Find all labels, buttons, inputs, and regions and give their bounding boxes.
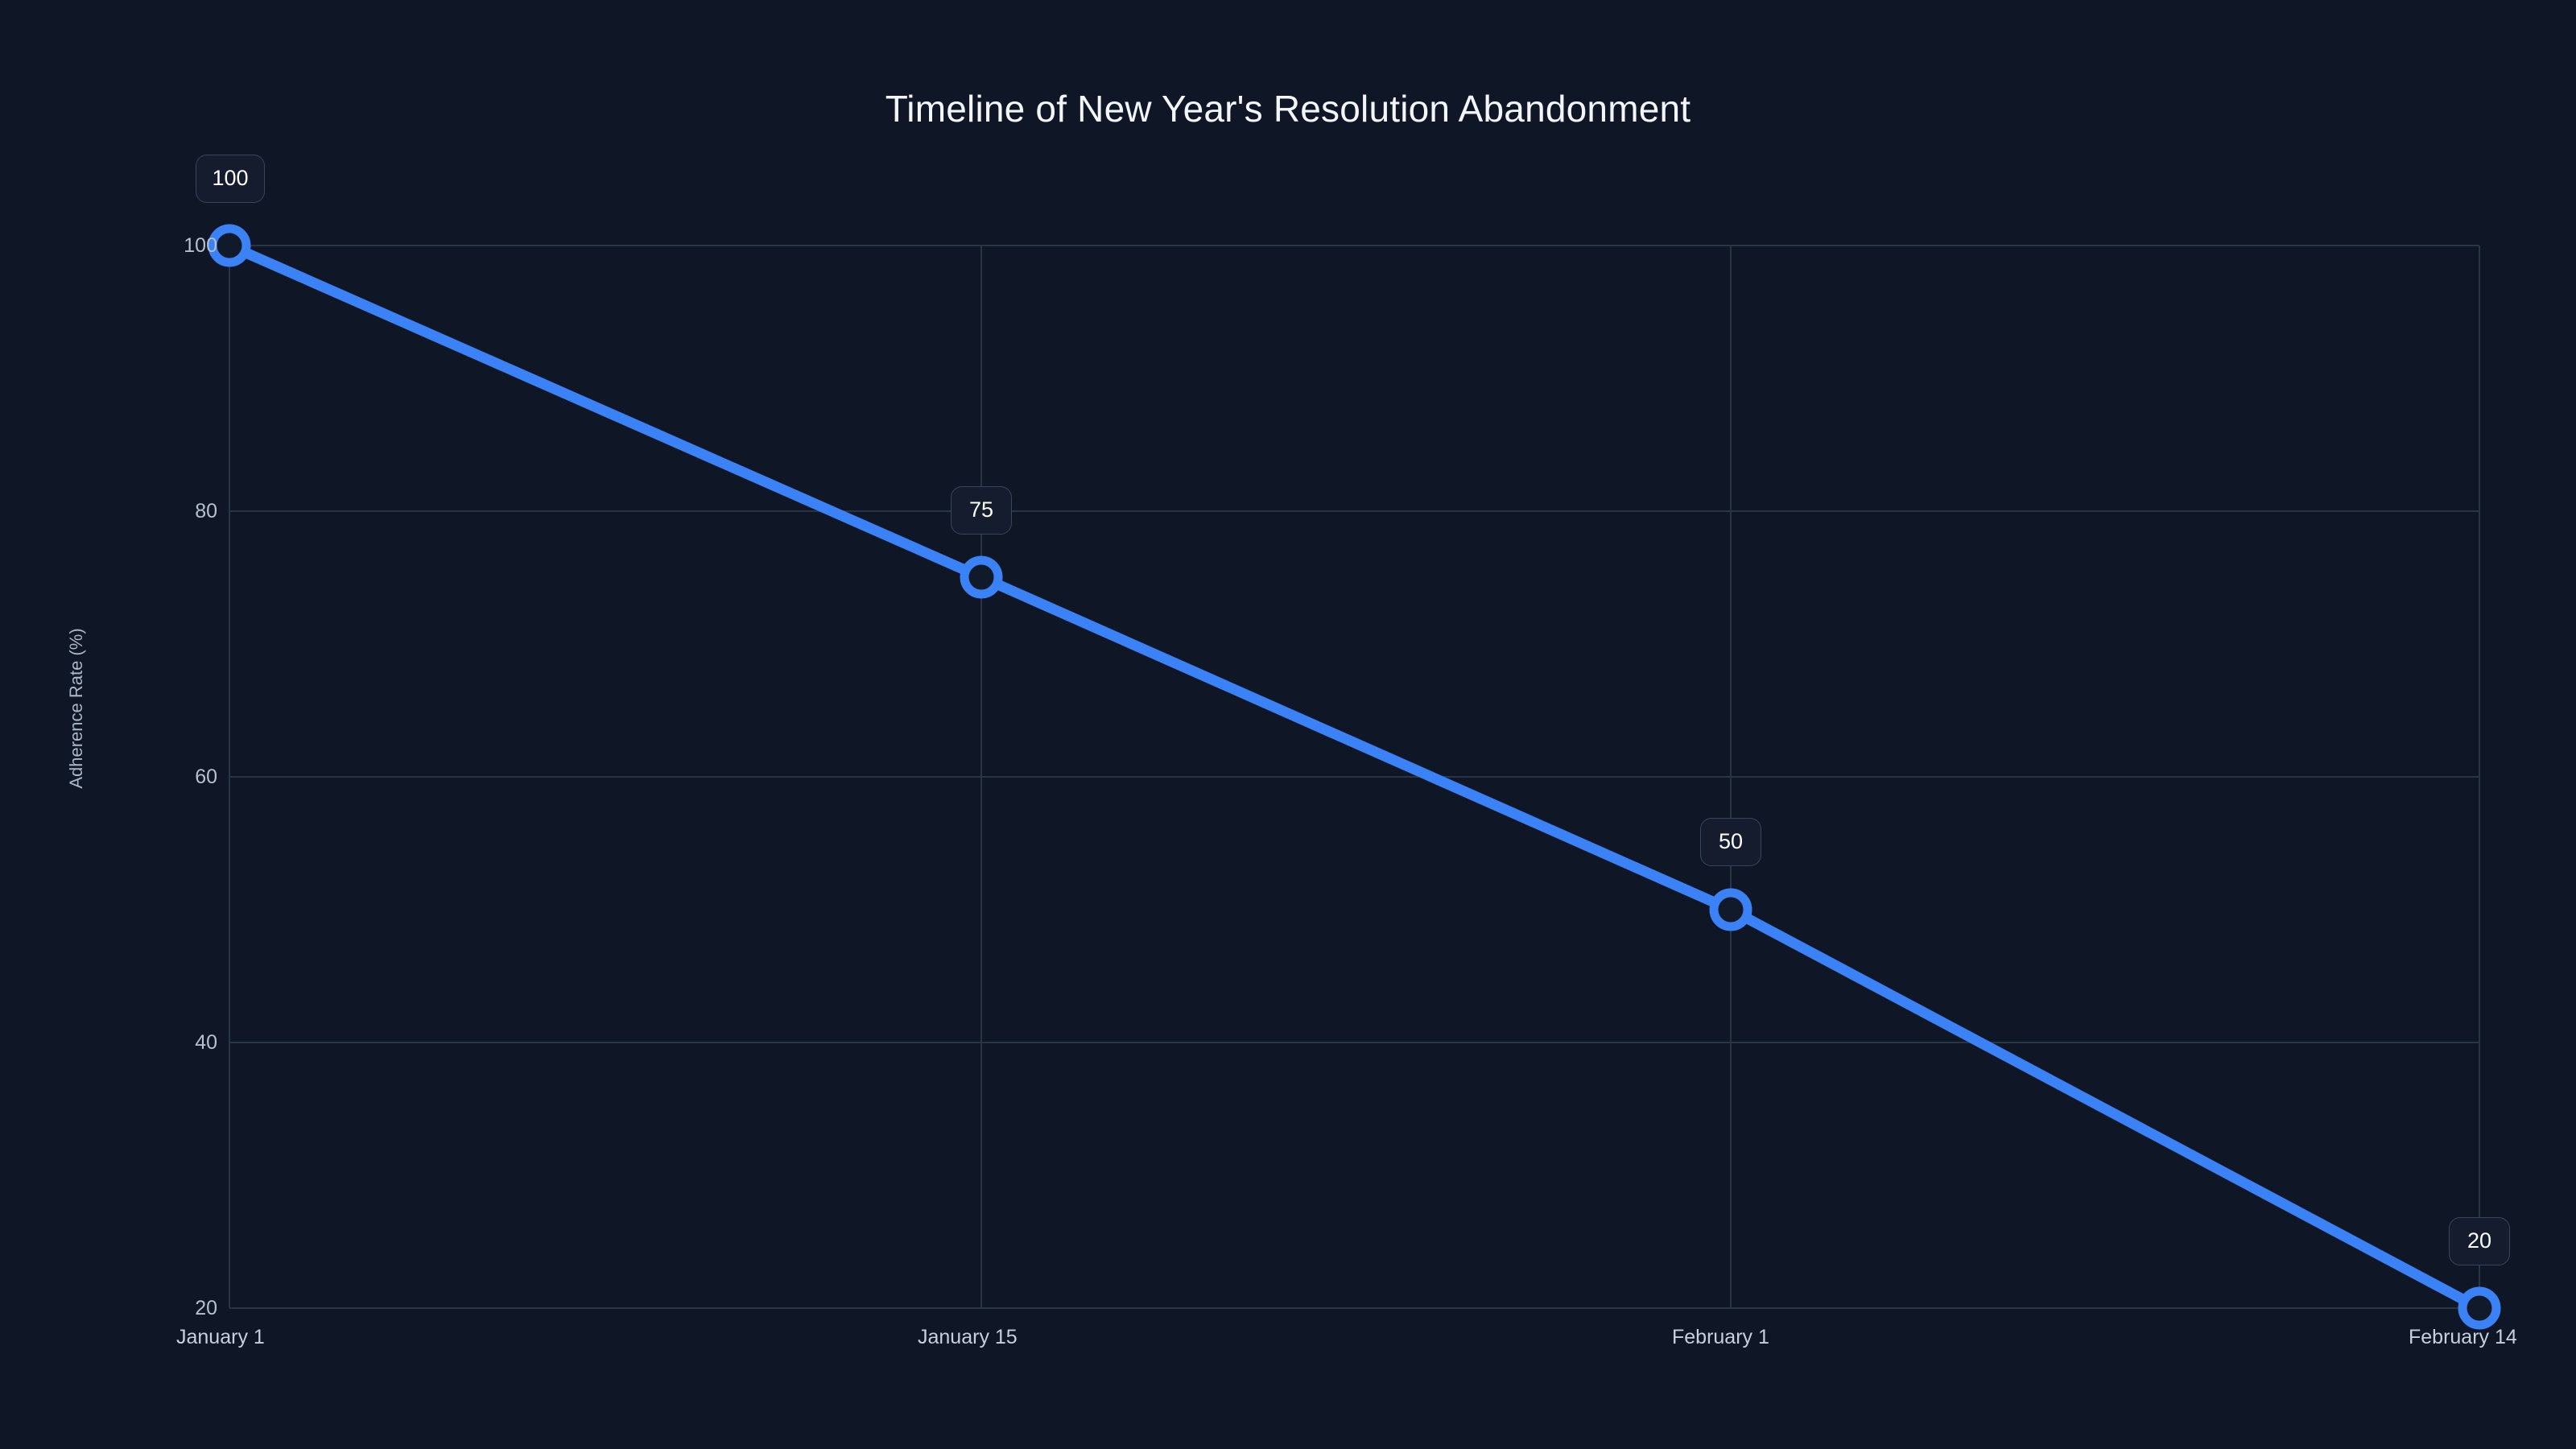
- y-tick-label-40: 40: [121, 1033, 217, 1053]
- data-point-marker[interactable]: [2462, 1291, 2496, 1325]
- y-tick-label-20: 20: [121, 1298, 217, 1319]
- data-label-badge: 100: [196, 155, 265, 203]
- data-label-badge: 50: [1700, 818, 1761, 866]
- gridlines: [229, 246, 2479, 1308]
- data-point-marker[interactable]: [1714, 893, 1748, 927]
- data-point-marker[interactable]: [964, 560, 998, 594]
- x-tick-label-january-1: January 1: [176, 1327, 265, 1348]
- x-tick-label-february-1: February 1: [1672, 1327, 1769, 1348]
- x-tick-label-february-14: February 14: [2409, 1327, 2517, 1348]
- data-point-marker[interactable]: [213, 229, 246, 262]
- data-label-badge: 20: [2449, 1217, 2510, 1265]
- data-label-badge: 75: [951, 486, 1012, 535]
- plot-area: [0, 0, 2576, 1449]
- y-tick-label-60: 60: [121, 767, 217, 787]
- x-tick-label-january-15: January 15: [918, 1327, 1018, 1348]
- chart-container: Timeline of New Year's Resolution Abando…: [0, 0, 2576, 1449]
- y-tick-label-80: 80: [121, 502, 217, 522]
- y-tick-label-100: 100: [121, 236, 217, 256]
